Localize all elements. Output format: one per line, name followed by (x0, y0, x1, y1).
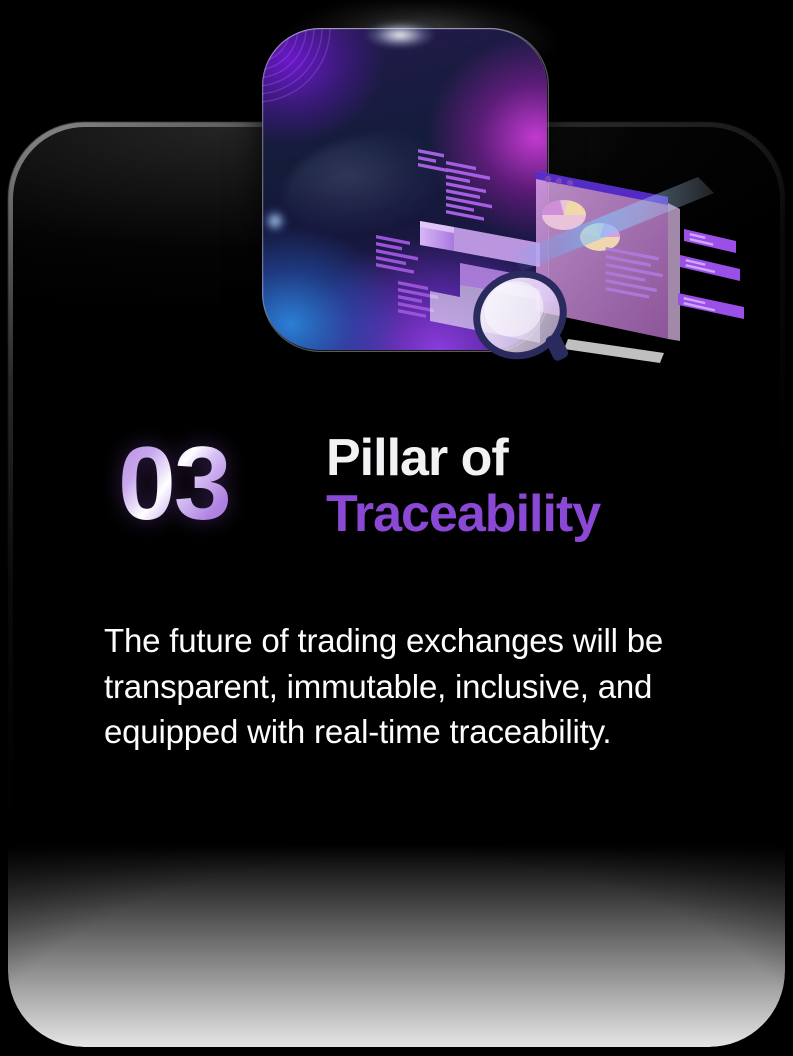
tag-chip-right-1 (684, 229, 736, 253)
title-line-1: Pillar of (326, 430, 746, 486)
title-line-2: Traceability (326, 486, 746, 542)
top-specular-highlight (354, 22, 446, 48)
keyboard-strip (564, 339, 664, 363)
isometric-data-illustration (368, 143, 768, 373)
tag-chip-right-2 (680, 255, 740, 281)
text-line-block-left-top (418, 149, 492, 222)
pillar-number: 03 (118, 432, 308, 536)
slide-canvas: 03 Pillar of Traceability The future of … (0, 0, 793, 1056)
tag-chip-right-3 (678, 293, 744, 319)
illustration-tile (258, 18, 550, 354)
page-title: Pillar of Traceability (326, 430, 746, 542)
text-line-block-left-mid (376, 235, 418, 275)
card-body-text: The future of trading exchanges will be … (104, 618, 764, 755)
concentric-rings-decoration (262, 28, 360, 132)
edge-specular-left (262, 204, 292, 238)
pie-chart-large (542, 200, 586, 230)
